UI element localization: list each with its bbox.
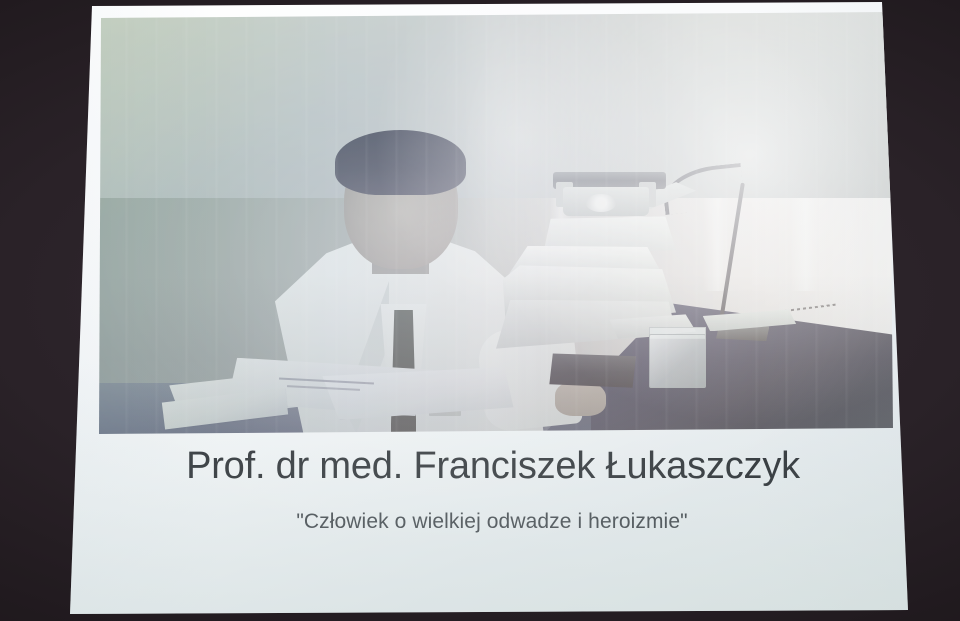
slide-title: Prof. dr med. Franciszek Łukaszczyk [66,446,908,488]
photo-bottom-shade [99,12,893,434]
window-transom-bar [99,12,448,15]
portrait-photograph [99,12,893,434]
slide-wrapper: Prof. dr med. Franciszek Łukaszczyk "Czł… [0,0,960,621]
presentation-slide: Prof. dr med. Franciszek Łukaszczyk "Czł… [66,2,908,614]
slide-subtitle: "Człowiek o wielkiej odwadze i heroizmie… [66,510,908,534]
projection-room: Prof. dr med. Franciszek Łukaszczyk "Czł… [0,0,960,621]
slide-caption-block: Prof. dr med. Franciszek Łukaszczyk "Czł… [66,446,908,534]
